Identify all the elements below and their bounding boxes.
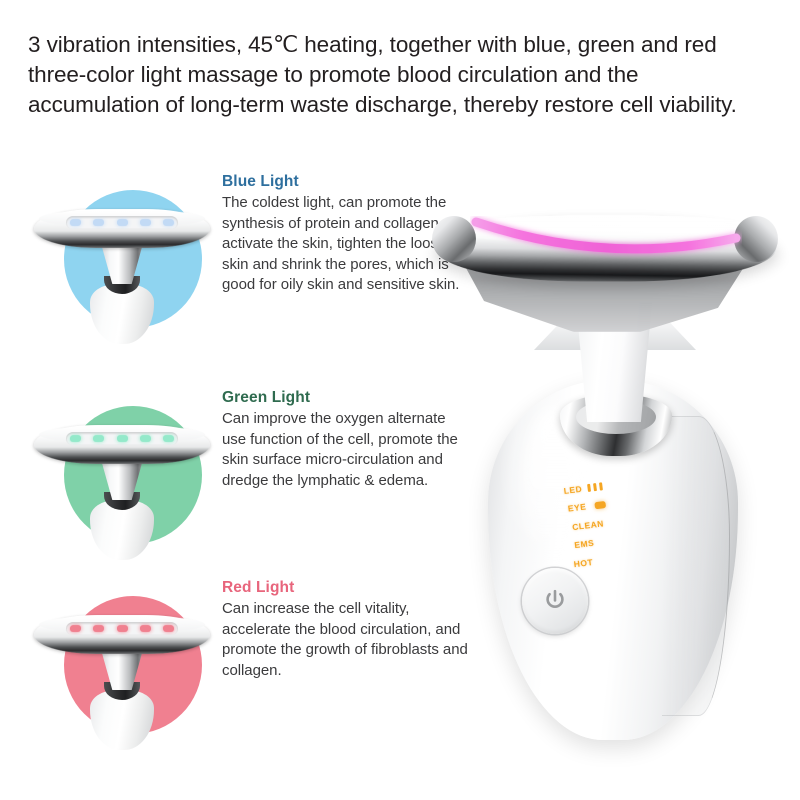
eye-indicator-chip <box>594 501 606 509</box>
control-label-ems: EMS <box>574 538 595 550</box>
led-bar <box>598 482 602 490</box>
header-description: 3 vibration intensities, 45℃ heating, to… <box>28 30 772 120</box>
led-dot <box>93 435 104 442</box>
led-dot <box>163 625 174 632</box>
led-dot <box>116 435 127 442</box>
led-dot <box>116 219 127 226</box>
thumb-led-strip-blue <box>66 216 179 229</box>
led-bar <box>592 482 596 490</box>
product-render: LED EYE CLEAN EMS HOT <box>430 180 800 760</box>
red-light-thumbnail <box>42 586 202 746</box>
product-infographic: 3 vibration intensities, 45℃ heating, to… <box>0 0 800 800</box>
device-head <box>430 190 780 340</box>
power-icon <box>542 588 568 614</box>
led-dot <box>93 625 104 632</box>
power-button[interactable] <box>522 568 588 634</box>
led-dot <box>163 435 174 442</box>
device-head-tip-right <box>734 216 778 262</box>
thumb-led-strip-green <box>66 432 179 445</box>
control-label-clean: CLEAN <box>572 518 605 532</box>
device-thumbnail-red <box>42 586 202 746</box>
device-thumbnail-green <box>42 396 202 556</box>
thumb-led-strip-red <box>66 622 179 635</box>
header-block: 3 vibration intensities, 45℃ heating, to… <box>28 30 772 120</box>
control-panel: LED EYE CLEAN EMS HOT <box>563 470 683 575</box>
led-dot <box>140 435 151 442</box>
led-dot <box>70 435 81 442</box>
device-head-gloss <box>450 216 763 242</box>
led-level-bars <box>587 482 603 492</box>
led-dot <box>70 625 81 632</box>
led-bar <box>587 483 591 491</box>
device-thumbnail-blue <box>42 180 202 340</box>
led-dot <box>93 219 104 226</box>
device-body-seam <box>662 416 730 716</box>
led-dot <box>116 625 127 632</box>
control-label-eye: EYE <box>567 501 587 513</box>
device-head-tip-left <box>432 216 476 262</box>
led-dot <box>140 219 151 226</box>
led-dot <box>163 219 174 226</box>
led-dot <box>140 625 151 632</box>
green-light-thumbnail <box>42 396 202 556</box>
control-label-led: LED <box>563 483 583 495</box>
led-dot <box>70 219 81 226</box>
blue-light-thumbnail <box>42 180 202 340</box>
control-label-hot: HOT <box>573 556 594 568</box>
